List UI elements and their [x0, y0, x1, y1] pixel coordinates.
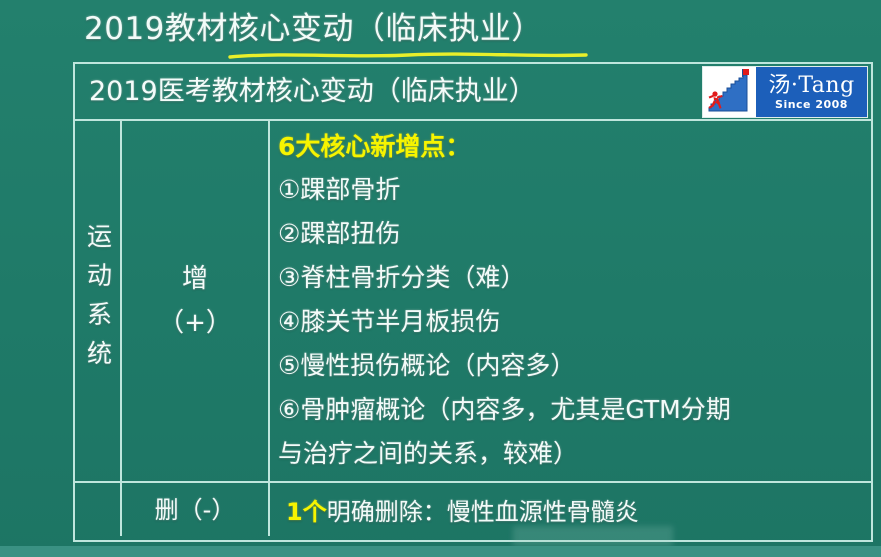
cell-operation-add: 增 （+） — [122, 121, 270, 481]
cell-system-spacer — [75, 483, 122, 536]
list-item-continuation: 与治疗之间的关系，较难） — [278, 432, 871, 476]
bottom-strip — [0, 546, 881, 557]
system-label: 运动系统 — [78, 223, 118, 379]
slide-background: 2019教材核心变动（临床执业） 2019医考教材核心变动（临床执业） — [0, 0, 881, 557]
bottom-glare — [513, 526, 673, 546]
list-item: ⑥骨肿瘤概论（内容多，尤其是GTM分期 — [278, 388, 871, 432]
operation-sign: （+） — [158, 301, 232, 345]
core-changes-table: 2019医考教材核心变动（临床执业） — [73, 62, 873, 542]
list-item: ⑤慢性损伤概论（内容多） — [278, 344, 871, 388]
list-item: ②踝部扭伤 — [278, 212, 871, 256]
brand-logo: 汤·Tang Since 2008 — [702, 66, 868, 118]
table-body: 运动系统 增 （+） 6大核心新增点： ①踝部骨折 ②踝部扭伤 ③脊柱骨折分类（… — [75, 121, 871, 540]
cell-operation-delete: 删（-） — [122, 483, 270, 536]
list-item: ①踝部骨折 — [278, 168, 871, 212]
operation-label-delete: 删（-） — [155, 495, 236, 525]
title-underline — [228, 44, 580, 49]
table-row: 删（-） 1个明确删除：慢性血源性骨髓炎 — [75, 483, 871, 536]
cell-addition-content: 6大核心新增点： ①踝部骨折 ②踝部扭伤 ③脊柱骨折分类（难） ④膝关节半月板损… — [270, 121, 871, 481]
cell-system-name: 运动系统 — [75, 121, 122, 481]
brand-wordmark: 汤·Tang Since 2008 — [755, 67, 867, 117]
list-item: ③脊柱骨折分类（难） — [278, 256, 871, 300]
table-header-title: 2019医考教材核心变动（临床执业） — [89, 73, 536, 111]
operation-label: 增 — [158, 257, 232, 301]
stairs-runner-flag-icon — [703, 67, 755, 117]
additions-lead: 6大核心新增点： — [278, 126, 871, 168]
deletion-text: 明确删除：慢性血源性骨髓炎 — [327, 498, 639, 526]
table-header-row: 2019医考教材核心变动（临床执业） — [75, 64, 871, 121]
brand-since: Since 2008 — [775, 98, 848, 111]
deletion-count: 1个 — [286, 498, 327, 526]
table-row: 运动系统 增 （+） 6大核心新增点： ①踝部骨折 ②踝部扭伤 ③脊柱骨折分类（… — [75, 121, 871, 483]
brand-name: 汤·Tang — [768, 74, 854, 98]
list-item: ④膝关节半月板损伤 — [278, 300, 871, 344]
